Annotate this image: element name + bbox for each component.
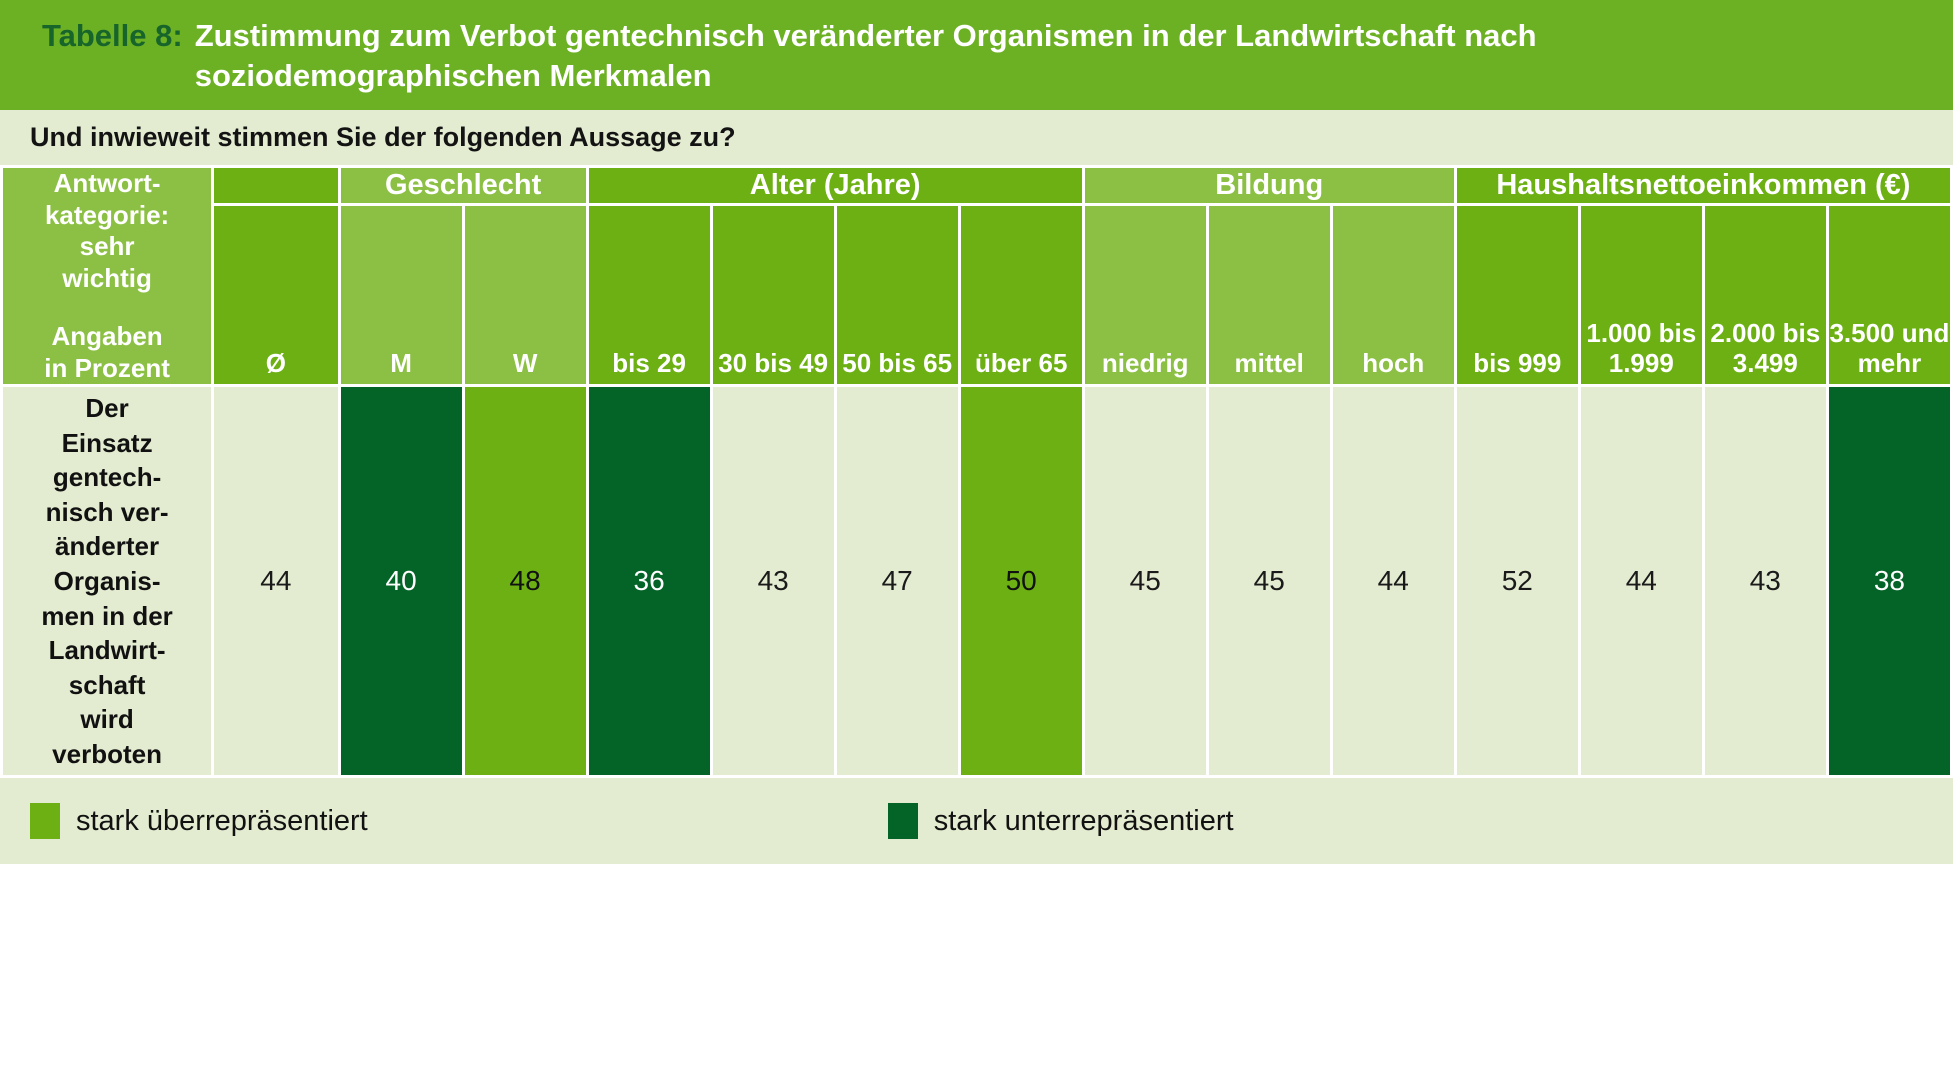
cell-durchschnitt: 44 xyxy=(214,387,337,775)
row-label-line: Organis- xyxy=(3,564,211,599)
cell-mittel: 45 xyxy=(1209,387,1330,775)
group-header-alter: Alter (Jahre) xyxy=(589,168,1082,203)
cell-3500-und-mehr: 38 xyxy=(1829,387,1950,775)
col-header-mittel: mittel xyxy=(1209,206,1330,384)
question-text: Und inwieweit stimmen Sie der folgenden … xyxy=(30,122,736,153)
col-header-niedrig: niedrig xyxy=(1085,206,1206,384)
col-header-weiblich: W xyxy=(465,206,586,384)
stub-line-4: wichtig xyxy=(3,263,211,295)
group-header-einkommen: Haushaltsnettoeinkommen (€) xyxy=(1457,168,1950,203)
row-label-line: verboten xyxy=(3,737,211,772)
cell-maennlich: 40 xyxy=(341,387,462,775)
legend-item-overrepresented: stark überrepräsentiert xyxy=(30,803,368,839)
table-figure: Tabelle 8: Zustimmung zum Verbot gentech… xyxy=(0,0,1953,1081)
row-label-line: gentech- xyxy=(3,460,211,495)
col-header-1000-bis-1999: 1.000 bis 1.999 xyxy=(1581,206,1702,384)
col-header-bis-999: bis 999 xyxy=(1457,206,1578,384)
cell-weiblich: 48 xyxy=(465,387,586,775)
col-header-durchschnitt: Ø xyxy=(214,206,337,384)
col-header-hoch: hoch xyxy=(1333,206,1454,384)
stub-spacer xyxy=(3,295,211,321)
cell-ueber-65: 50 xyxy=(961,387,1082,775)
col-header-30-bis-49: 30 bis 49 xyxy=(713,206,834,384)
col-header-3500-und-mehr: 3.500 und mehr xyxy=(1829,206,1950,384)
stub-line-2: kategorie: xyxy=(3,200,211,232)
data-table: Antwort- kategorie: sehr wichtig Angaben… xyxy=(0,165,1953,778)
table-group-header-row: Antwort- kategorie: sehr wichtig Angaben… xyxy=(3,168,1950,203)
row-label-line: nisch ver- xyxy=(3,495,211,530)
cell-niedrig: 45 xyxy=(1085,387,1206,775)
group-header-geschlecht: Geschlecht xyxy=(341,168,586,203)
cell-hoch: 44 xyxy=(1333,387,1454,775)
cell-bis-999: 52 xyxy=(1457,387,1578,775)
question-band: Und inwieweit stimmen Sie der folgenden … xyxy=(0,110,1953,165)
col-header-2000-bis-3499: 2.000 bis 3.499 xyxy=(1705,206,1826,384)
title-banner: Tabelle 8: Zustimmung zum Verbot gentech… xyxy=(0,0,1953,110)
table-column-header-row: Ø M W bis 29 30 bis 49 50 bis 65 über 65… xyxy=(3,206,1950,384)
group-header-average xyxy=(214,168,337,203)
col-header-ueber-65: über 65 xyxy=(961,206,1082,384)
stub-line-5: Angaben xyxy=(3,321,211,353)
title-inner: Tabelle 8: Zustimmung zum Verbot gentech… xyxy=(0,16,1953,95)
table-row: Der Einsatz gentech- nisch ver- änderter… xyxy=(3,387,1950,775)
row-label-line: Einsatz xyxy=(3,426,211,461)
stub-line-3: sehr xyxy=(3,231,211,263)
stub-header-cell: Antwort- kategorie: sehr wichtig Angaben… xyxy=(3,168,211,384)
legend-item-underrepresented: stark unterrepräsentiert xyxy=(888,803,1234,839)
page-title: Zustimmung zum Verbot gentechnisch verän… xyxy=(195,16,1755,95)
row-label-line: schaft xyxy=(3,668,211,703)
table-number-label: Tabelle 8: xyxy=(42,16,183,56)
stub-line-6: in Prozent xyxy=(3,353,211,385)
col-header-bis-29: bis 29 xyxy=(589,206,710,384)
row-label-line: Der xyxy=(3,391,211,426)
group-header-bildung: Bildung xyxy=(1085,168,1454,203)
legend-label-underrepresented: stark unterrepräsentiert xyxy=(934,805,1234,838)
legend: stark überrepräsentiert stark unterreprä… xyxy=(0,778,1953,864)
stub-line-1: Antwort- xyxy=(3,168,211,200)
cell-bis-29: 36 xyxy=(589,387,710,775)
col-header-50-bis-65: 50 bis 65 xyxy=(837,206,958,384)
legend-swatch-underrepresented-icon xyxy=(888,803,918,839)
cell-1000-bis-1999: 44 xyxy=(1581,387,1702,775)
col-header-maennlich: M xyxy=(341,206,462,384)
row-label-line: Landwirt- xyxy=(3,633,211,668)
legend-swatch-overrepresented-icon xyxy=(30,803,60,839)
row-label: Der Einsatz gentech- nisch ver- änderter… xyxy=(3,387,211,775)
row-label-line: änderter xyxy=(3,529,211,564)
cell-30-bis-49: 43 xyxy=(713,387,834,775)
row-label-line: men in der xyxy=(3,599,211,634)
row-label-line: wird xyxy=(3,702,211,737)
cell-2000-bis-3499: 43 xyxy=(1705,387,1826,775)
legend-label-overrepresented: stark überrepräsentiert xyxy=(76,805,368,838)
cell-50-bis-65: 47 xyxy=(837,387,958,775)
